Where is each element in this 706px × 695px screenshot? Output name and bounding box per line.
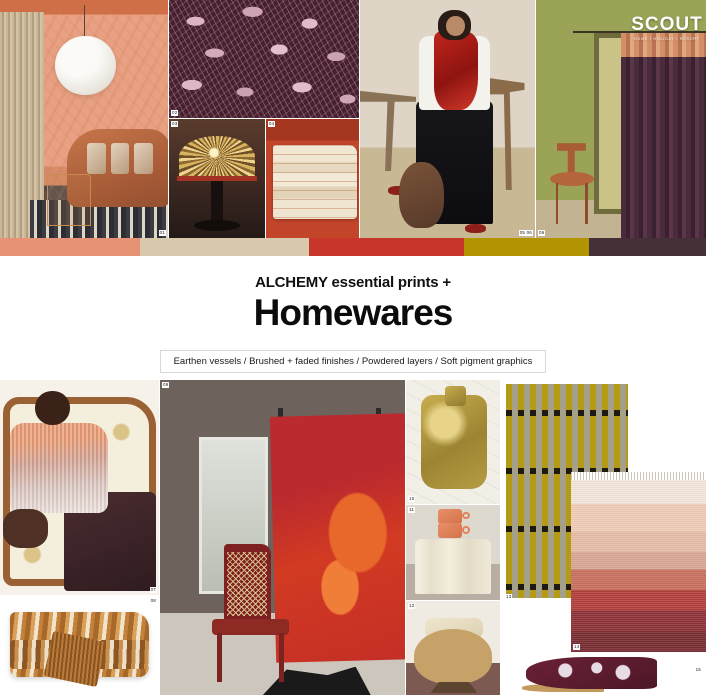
draped-cloth-table (415, 539, 490, 594)
burgundy-mule-upper (526, 657, 657, 689)
cane-webbing (227, 552, 267, 616)
botanical-pattern (169, 0, 359, 118)
image-tag: 12 (408, 603, 415, 609)
sofa-pillow (87, 143, 105, 174)
image-tag: 06 (538, 230, 545, 236)
red-draped-scarf (434, 31, 478, 110)
earthen-vessel (399, 162, 445, 229)
image-tile-mosaic-dome-lamp[interactable]: 03 (169, 119, 265, 238)
plum-velvet-curtain (621, 38, 706, 238)
image-tag: 01 (159, 230, 166, 236)
wooden-side-chair (550, 138, 594, 224)
image-tag: 08 (150, 598, 157, 604)
page-title: Homewares (0, 293, 706, 334)
image-tag: 15 (695, 667, 702, 673)
ombre-gradient-field (571, 480, 706, 652)
image-tag: 07 (150, 587, 157, 593)
image-tag: 02 (171, 110, 178, 116)
cane-chair (209, 544, 292, 683)
scout-logo-text: SCOUT (631, 14, 703, 35)
paper-lantern (55, 36, 115, 96)
bottom-image-grid: 07 08 09 10 11 (0, 380, 706, 695)
scout-logo: SCOUT HOME / HOLIDAY / RESORT (631, 14, 702, 41)
color-swatch-salmon-coral[interactable] (0, 238, 140, 256)
model-head (35, 391, 70, 425)
gold-bottle-neck (445, 386, 466, 406)
rattan-shell (414, 629, 493, 684)
chair-seat (212, 619, 289, 636)
image-tile-model-gradient-knit[interactable]: 07 (0, 380, 159, 595)
color-swatch-warm-sand-beige[interactable] (140, 238, 309, 256)
image-tile-pink-plaster-room[interactable]: 01 (0, 0, 168, 238)
image-tag: 11 (408, 507, 415, 513)
terracotta-mug (438, 509, 462, 524)
image-tag: 03 (171, 121, 178, 127)
color-swatch-signal-red[interactable] (309, 238, 464, 256)
image-tile-burgundy-patterned-mule[interactable]: 15 (501, 653, 706, 695)
image-tag: 09 (162, 382, 169, 388)
image-tag: 05 06 (519, 230, 533, 236)
color-palette-bar (0, 238, 706, 256)
chair-leg (217, 633, 222, 683)
image-tag: 10 (408, 496, 415, 502)
weave-texture (571, 480, 706, 652)
image-tag: 14 (573, 644, 580, 650)
wire-stool (47, 174, 91, 226)
sofa-pillow (134, 143, 152, 174)
mosaic-dome-shade (179, 136, 256, 179)
lamp-base (194, 220, 240, 231)
lantern-cord (84, 5, 85, 38)
image-tile-stacked-cream-blankets[interactable]: 04 (266, 119, 359, 238)
image-tile-red-floral-tapestry-room[interactable]: 09 (160, 380, 405, 695)
image-tile-red-drape-figure[interactable]: 05 06 (360, 0, 535, 238)
top-image-strip: 01 02 03 04 05 06 (0, 0, 706, 238)
blanket-stack (273, 145, 357, 219)
image-tile-rattan-chair-cushion[interactable]: 12 (406, 601, 500, 695)
theme-caption: Earthen vessels / Brushed + faded finish… (160, 350, 547, 373)
ombre-knit-polo (10, 423, 109, 513)
image-tile-green-room-plum-curtains[interactable]: SCOUT HOME / HOLIDAY / RESORT 06 (536, 0, 706, 238)
image-tag: 04 (268, 121, 275, 127)
chair-leg (556, 183, 558, 224)
chair-leg (279, 633, 284, 683)
image-tile-ombre-gradient-blanket[interactable]: 14 (571, 472, 706, 652)
red-shoe (465, 224, 486, 234)
scout-logo-subtext: HOME / HOLIDAY / RESORT (631, 37, 702, 41)
title-block: ALCHEMY essential prints + Homewares Ear… (0, 256, 706, 378)
image-tile-plum-botanical-print[interactable]: 02 (169, 0, 359, 118)
blanket-fringe (571, 472, 706, 480)
gold-bottle-body (421, 395, 487, 489)
image-tile-amber-striped-throw[interactable]: 08 (0, 596, 159, 695)
eyebrow-text: ALCHEMY essential prints + (0, 256, 706, 291)
image-tile-gold-hot-water-bottle[interactable]: 10 (406, 380, 500, 504)
figure-face (446, 16, 464, 36)
sofa-pillow (111, 143, 129, 174)
color-swatch-dark-plum[interactable] (589, 238, 705, 256)
model-arm (3, 509, 48, 548)
terracotta-mug (438, 523, 462, 538)
chair-leg (585, 183, 587, 224)
color-swatch-mustard-gold[interactable] (464, 238, 590, 256)
image-tag: 13 (505, 594, 512, 600)
lamp-stem (211, 181, 223, 221)
image-tile-terracotta-stacked-mugs[interactable]: 11 (406, 505, 500, 600)
